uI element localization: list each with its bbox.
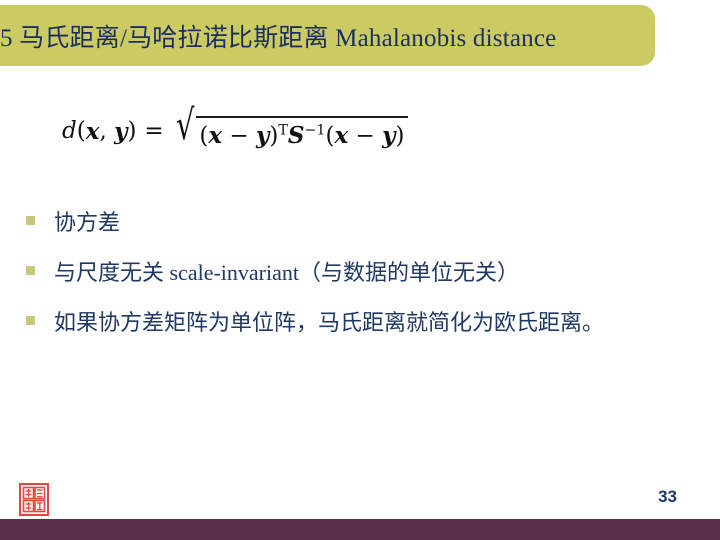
bullet-list: 协方差 与尺度无关 scale-invariant（与数据的单位无关） 如果协方… xyxy=(26,205,646,355)
square-bullet-icon xyxy=(26,266,35,275)
formula-lhs-comma: , xyxy=(99,118,106,144)
slide-canvas: 5 马氏距离/马哈拉诺比斯距离 Mahalanobis distance d(x… xyxy=(0,0,720,540)
list-item: 如果协方差矩阵为单位阵，马氏距离就简化为欧氏距离。 xyxy=(26,305,646,341)
square-bullet-icon xyxy=(26,316,35,325)
list-item: 与尺度无关 scale-invariant（与数据的单位无关） xyxy=(26,255,646,291)
formula-equals-sign: = xyxy=(136,118,171,144)
formula-lhs-vector-y: y xyxy=(114,118,127,145)
radicand-vector-y-1: y xyxy=(256,122,269,149)
radicand-vector-x-1: x xyxy=(208,122,222,149)
page-number: 33 xyxy=(658,487,677,507)
radicand-minus-2: − xyxy=(356,123,375,149)
radicand-vector-y-2: y xyxy=(382,122,395,149)
formula-square-root: √ (x − y)TS−1(x − y) xyxy=(176,118,409,149)
title-bar: 5 马氏距离/马哈拉诺比斯距离 Mahalanobis distance xyxy=(0,5,655,66)
formula-function-d: d xyxy=(62,118,77,144)
covariance-matrix-s: S xyxy=(288,122,305,149)
footer-band xyxy=(0,519,720,540)
mahalanobis-formula: d(x, y) = √ (x − y)TS−1(x − y) xyxy=(62,118,408,149)
list-item-label: 如果协方差矩阵为单位阵，马氏距离就简化为欧氏距离。 xyxy=(54,305,604,341)
radicand-close-paren-2: ) xyxy=(395,123,404,149)
square-bullet-icon xyxy=(26,216,35,225)
formula-lhs-open-paren: ( xyxy=(77,118,86,144)
radicand-open-paren-1: ( xyxy=(199,123,208,149)
radicand-minus-1: − xyxy=(229,123,248,149)
radicand-vector-x-2: x xyxy=(334,122,348,149)
red-seal-logo-icon xyxy=(19,483,49,516)
inverse-superscript: −1 xyxy=(304,122,325,138)
formula-lhs-close-paren: ) xyxy=(127,118,136,144)
list-item-label: 协方差 xyxy=(54,205,120,241)
radicand-close-paren-1: ) xyxy=(269,123,278,149)
list-item-label: 与尺度无关 scale-invariant（与数据的单位无关） xyxy=(54,255,519,291)
radical-icon: √ xyxy=(176,108,194,149)
transpose-superscript: T xyxy=(278,122,288,138)
list-item: 协方差 xyxy=(26,205,646,241)
formula-radicand: (x − y)TS−1(x − y) xyxy=(196,116,408,149)
formula-lhs-vector-x: x xyxy=(86,118,100,145)
page-title: 5 马氏距离/马哈拉诺比斯距离 Mahalanobis distance xyxy=(0,5,645,66)
